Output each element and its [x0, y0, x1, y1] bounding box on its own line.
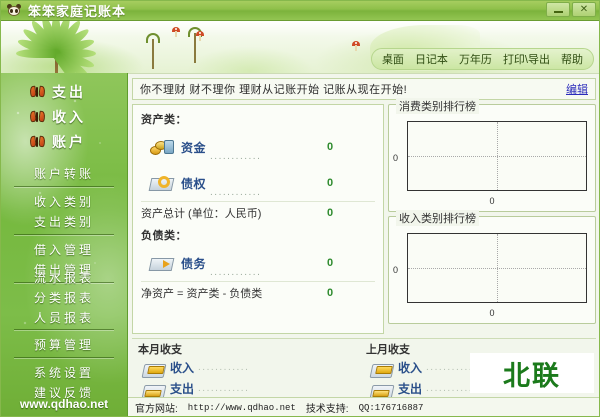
close-icon: ✕ [573, 3, 595, 16]
coins-icon [149, 136, 175, 158]
balance-summary-panel: 资产类： 资金 ............ 0 债权 ............ 0… [132, 104, 384, 334]
window-controls: ✕ [546, 2, 596, 17]
asset-value: 0 [319, 177, 375, 189]
asset-row-receivable[interactable]: 债权 ............ 0 [141, 165, 375, 201]
asset-row-cash[interactable]: 资金 ............ 0 [141, 129, 375, 165]
this-month-expense-row[interactable]: 支出 ............ [132, 378, 364, 399]
liabilities-section-title: 负债类： [141, 227, 375, 243]
sidebar-item-label: 支出 [52, 82, 86, 102]
sidebar-item-expense-category[interactable]: 支出类别 [0, 211, 128, 231]
palm-tree-icon [22, 29, 100, 73]
mushroom-icon [352, 41, 360, 51]
sidebar-item-account[interactable]: 账户 [0, 129, 128, 154]
sidebar-group-categories: 收入类别 支出类别 [0, 191, 128, 231]
sidebar-item-system-settings[interactable]: 系统设置 [0, 362, 128, 382]
expense-chart-title: 消费类别排行榜 [396, 98, 479, 114]
status-bar: 官方网站: http://www.qdhao.net 技术支持: QQ:1767… [128, 397, 600, 417]
minimize-button[interactable] [546, 2, 570, 17]
menu-diary[interactable]: 日记本 [415, 51, 448, 67]
income-chart-ytick: 0 [393, 265, 398, 275]
wallet-income-icon [370, 359, 392, 377]
support-qq: QQ:176716887 [359, 403, 424, 413]
expense-chart-plot [407, 121, 587, 191]
sidebar-group-system: 系统设置 建议反馈 [0, 362, 128, 402]
this-month-title: 本月收支 [132, 339, 364, 357]
sidebar-divider [14, 329, 114, 331]
expense-ranking-chart: 消费类别排行榜 0 0 [388, 104, 596, 212]
top-menu-bar: 桌面 日记本 万年历 打印\导出 帮助 [371, 48, 594, 70]
sidebar-item-category-report[interactable]: 分类报表 [0, 287, 128, 307]
close-button[interactable]: ✕ [572, 2, 596, 17]
folder-ring-icon [149, 172, 175, 194]
row-label: 收入 [398, 359, 422, 376]
liability-value: 0 [319, 257, 375, 269]
sidebar-divider [14, 186, 114, 188]
expense-chart-ytick: 0 [393, 153, 398, 163]
sidebar-item-income-category[interactable]: 收入类别 [0, 191, 128, 211]
dot-leader: ............ [198, 383, 364, 394]
sidebar-item-budget-management[interactable]: 预算管理 [0, 334, 128, 354]
wallet-income-icon [142, 359, 164, 377]
row-label: 支出 [170, 380, 194, 397]
income-chart-title: 收入类别排行榜 [396, 210, 479, 226]
menu-desktop[interactable]: 桌面 [382, 51, 404, 67]
official-site-label: 官方网站: [135, 400, 178, 415]
sidebar-divider [14, 357, 114, 359]
asset-label: 债权 [181, 175, 206, 192]
assets-total-row: 资产总计 (单位：人民币) 0 [141, 201, 375, 221]
this-month-income-row[interactable]: 收入 ............ [132, 357, 364, 378]
sprout-icon [182, 27, 208, 65]
title-bar: 笨笨家庭记账本 ✕ [0, 0, 600, 21]
row-label: 支出 [398, 380, 422, 397]
sidebar-group-transfer: 账户转账 [0, 163, 128, 183]
income-ranking-chart: 收入类别排行榜 0 0 [388, 216, 596, 324]
window-title: 笨笨家庭记账本 [28, 1, 126, 20]
assets-total-label: 资产总计 (单位：人民币) [141, 205, 261, 221]
sidebar-main-nav: 支出 收入 账户 [0, 79, 128, 154]
sidebar-group-reports: 流水报表 分类报表 人员报表 [0, 267, 128, 327]
watermark-text: 北联 [503, 354, 561, 393]
sidebar-divider [14, 234, 114, 236]
wallet-expense-icon [370, 380, 392, 398]
sidebar-item-expense[interactable]: 支出 [0, 79, 128, 104]
panda-icon [6, 3, 22, 18]
net-worth-label: 净资产 = 资产类 - 负债类 [141, 285, 262, 301]
row-label: 收入 [170, 359, 194, 376]
assets-section-title: 资产类： [141, 111, 375, 127]
sidebar-item-person-report[interactable]: 人员报表 [0, 307, 128, 327]
net-worth-value: 0 [319, 287, 375, 299]
liability-label: 债务 [181, 255, 206, 272]
gridline-horizontal [408, 268, 586, 269]
net-worth-row: 净资产 = 资产类 - 负债类 0 [141, 281, 375, 301]
asset-value: 0 [319, 141, 375, 153]
sidebar-item-income[interactable]: 收入 [0, 104, 128, 129]
gridline-horizontal [408, 156, 586, 157]
tip-bar: 你不理财 财不理你 理财从记账开始 记账从现在开始! 编辑 [132, 78, 596, 100]
income-chart-plot [407, 233, 587, 303]
watermark: 北联 [470, 353, 594, 393]
dot-leader: ............ [210, 267, 315, 281]
expense-chart-xtick: 0 [489, 196, 494, 206]
dot-leader: ............ [198, 362, 364, 373]
asset-label: 资金 [181, 139, 206, 156]
menu-calendar[interactable]: 万年历 [459, 51, 492, 67]
this-month-column: 本月收支 收入 ............ 支出 ............ [132, 339, 364, 399]
official-site-url[interactable]: http://www.qdhao.net [188, 403, 296, 413]
menu-help[interactable]: 帮助 [561, 51, 583, 67]
income-chart-xtick: 0 [489, 308, 494, 318]
mushroom-icon [172, 27, 180, 37]
butterfly-icon [30, 86, 45, 98]
sidebar-item-label: 账户 [52, 132, 86, 152]
sidebar-item-label: 收入 [52, 107, 86, 127]
sprout-icon [140, 33, 166, 71]
mushroom-icon [196, 31, 204, 41]
liability-row-debt[interactable]: 债务 ............ 0 [141, 245, 375, 281]
left-sidebar: 支出 收入 账户 账户转账 收入类别 支出类别 [0, 73, 128, 417]
butterfly-icon [30, 111, 45, 123]
dot-leader: ............ [210, 151, 315, 165]
sidebar-item-flow-report[interactable]: 流水报表 [0, 267, 128, 287]
assets-total-value: 0 [319, 207, 375, 219]
edit-tip-link[interactable]: 编辑 [566, 81, 588, 97]
wallet-expense-icon [142, 380, 164, 398]
support-label: 技术支持: [306, 400, 349, 415]
application-window: 笨笨家庭记账本 ✕ [0, 0, 600, 417]
sidebar-group-budget: 预算管理 [0, 334, 128, 354]
menu-print-export[interactable]: 打印\导出 [503, 51, 550, 67]
tip-text: 你不理财 财不理你 理财从记账开始 记账从现在开始! [140, 81, 407, 97]
folder-arrow-icon [149, 252, 175, 274]
sidebar-site-url[interactable]: www.qdhao.net [0, 397, 128, 411]
sidebar-item-borrow-in[interactable]: 借入管理 [0, 239, 128, 259]
dot-leader: ............ [210, 187, 315, 201]
sidebar-item-account-transfer[interactable]: 账户转账 [0, 163, 128, 183]
butterfly-icon [30, 136, 45, 148]
